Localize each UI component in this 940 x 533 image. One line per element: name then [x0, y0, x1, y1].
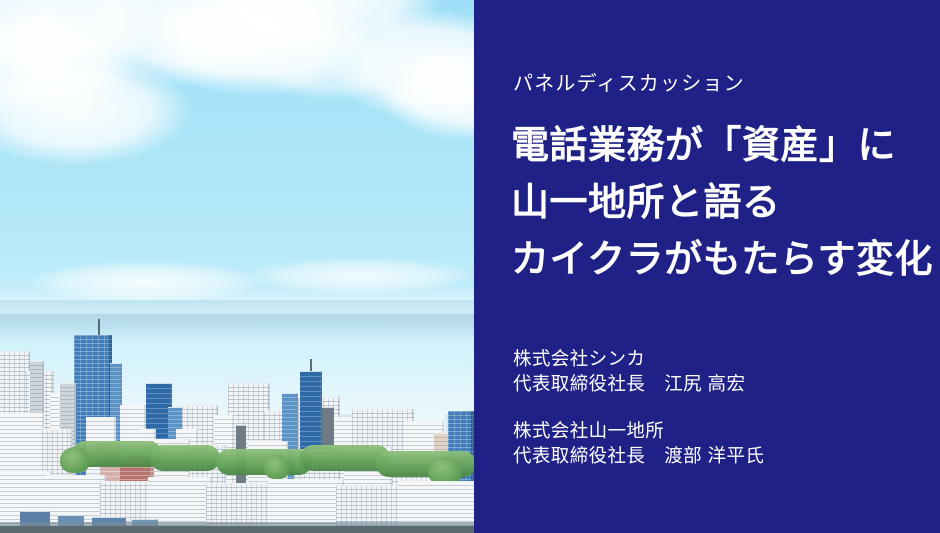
speaker-company: 株式会社山一地所 — [513, 418, 933, 443]
cloud-shape — [250, 258, 470, 294]
distant-ridge — [0, 314, 474, 340]
tower-antenna — [310, 359, 312, 371]
presentation-slide: パネルディスカッション 電話業務が「資産」に 山一地所と語る カイクラがもたらす… — [0, 0, 940, 533]
headline-line-3: カイクラがもたらす変化 — [511, 232, 931, 289]
session-type-label: パネルディスカッション — [513, 70, 745, 98]
speaker-title-name: 代表取締役社長 江尻 高宏 — [513, 371, 933, 396]
tower-antenna — [98, 319, 100, 335]
speaker-entry: 株式会社山一地所 代表取締役社長 渡部 洋平氏 — [513, 418, 933, 468]
cloud-shape — [250, 30, 410, 100]
photo-bottom-edge — [0, 526, 474, 533]
title-panel: パネルディスカッション 電話業務が「資産」に 山一地所と語る カイクラがもたらす… — [474, 0, 940, 533]
page-title: 電話業務が「資産」に 山一地所と語る カイクラがもたらす変化 — [511, 118, 931, 289]
cloud-shape — [0, 10, 140, 115]
tree-canopy — [264, 455, 290, 479]
headline-line-2: 山一地所と語る — [511, 175, 931, 232]
cloud-shape — [60, 0, 320, 85]
speaker-entry: 株式会社シンカ 代表取締役社長 江尻 高宏 — [513, 346, 933, 396]
cityscape — [0, 296, 474, 533]
tree-canopy — [60, 447, 90, 473]
cloud-shape — [200, 0, 440, 60]
tree-canopy — [150, 445, 220, 471]
cloud-shape — [380, 45, 474, 140]
cloud-shape — [330, 10, 474, 120]
speaker-list: 株式会社シンカ 代表取締役社長 江尻 高宏 株式会社山一地所 代表取締役社長 渡… — [513, 346, 933, 468]
cloud-shape — [0, 55, 190, 165]
city-skyline-photo — [0, 0, 474, 533]
headline-line-1: 電話業務が「資産」に — [511, 118, 931, 175]
cloud-shape — [140, 0, 370, 95]
speaker-title-name: 代表取締役社長 渡部 洋平氏 — [513, 443, 933, 468]
speaker-company: 株式会社シンカ — [513, 346, 933, 371]
cloud-shape — [0, 0, 160, 80]
